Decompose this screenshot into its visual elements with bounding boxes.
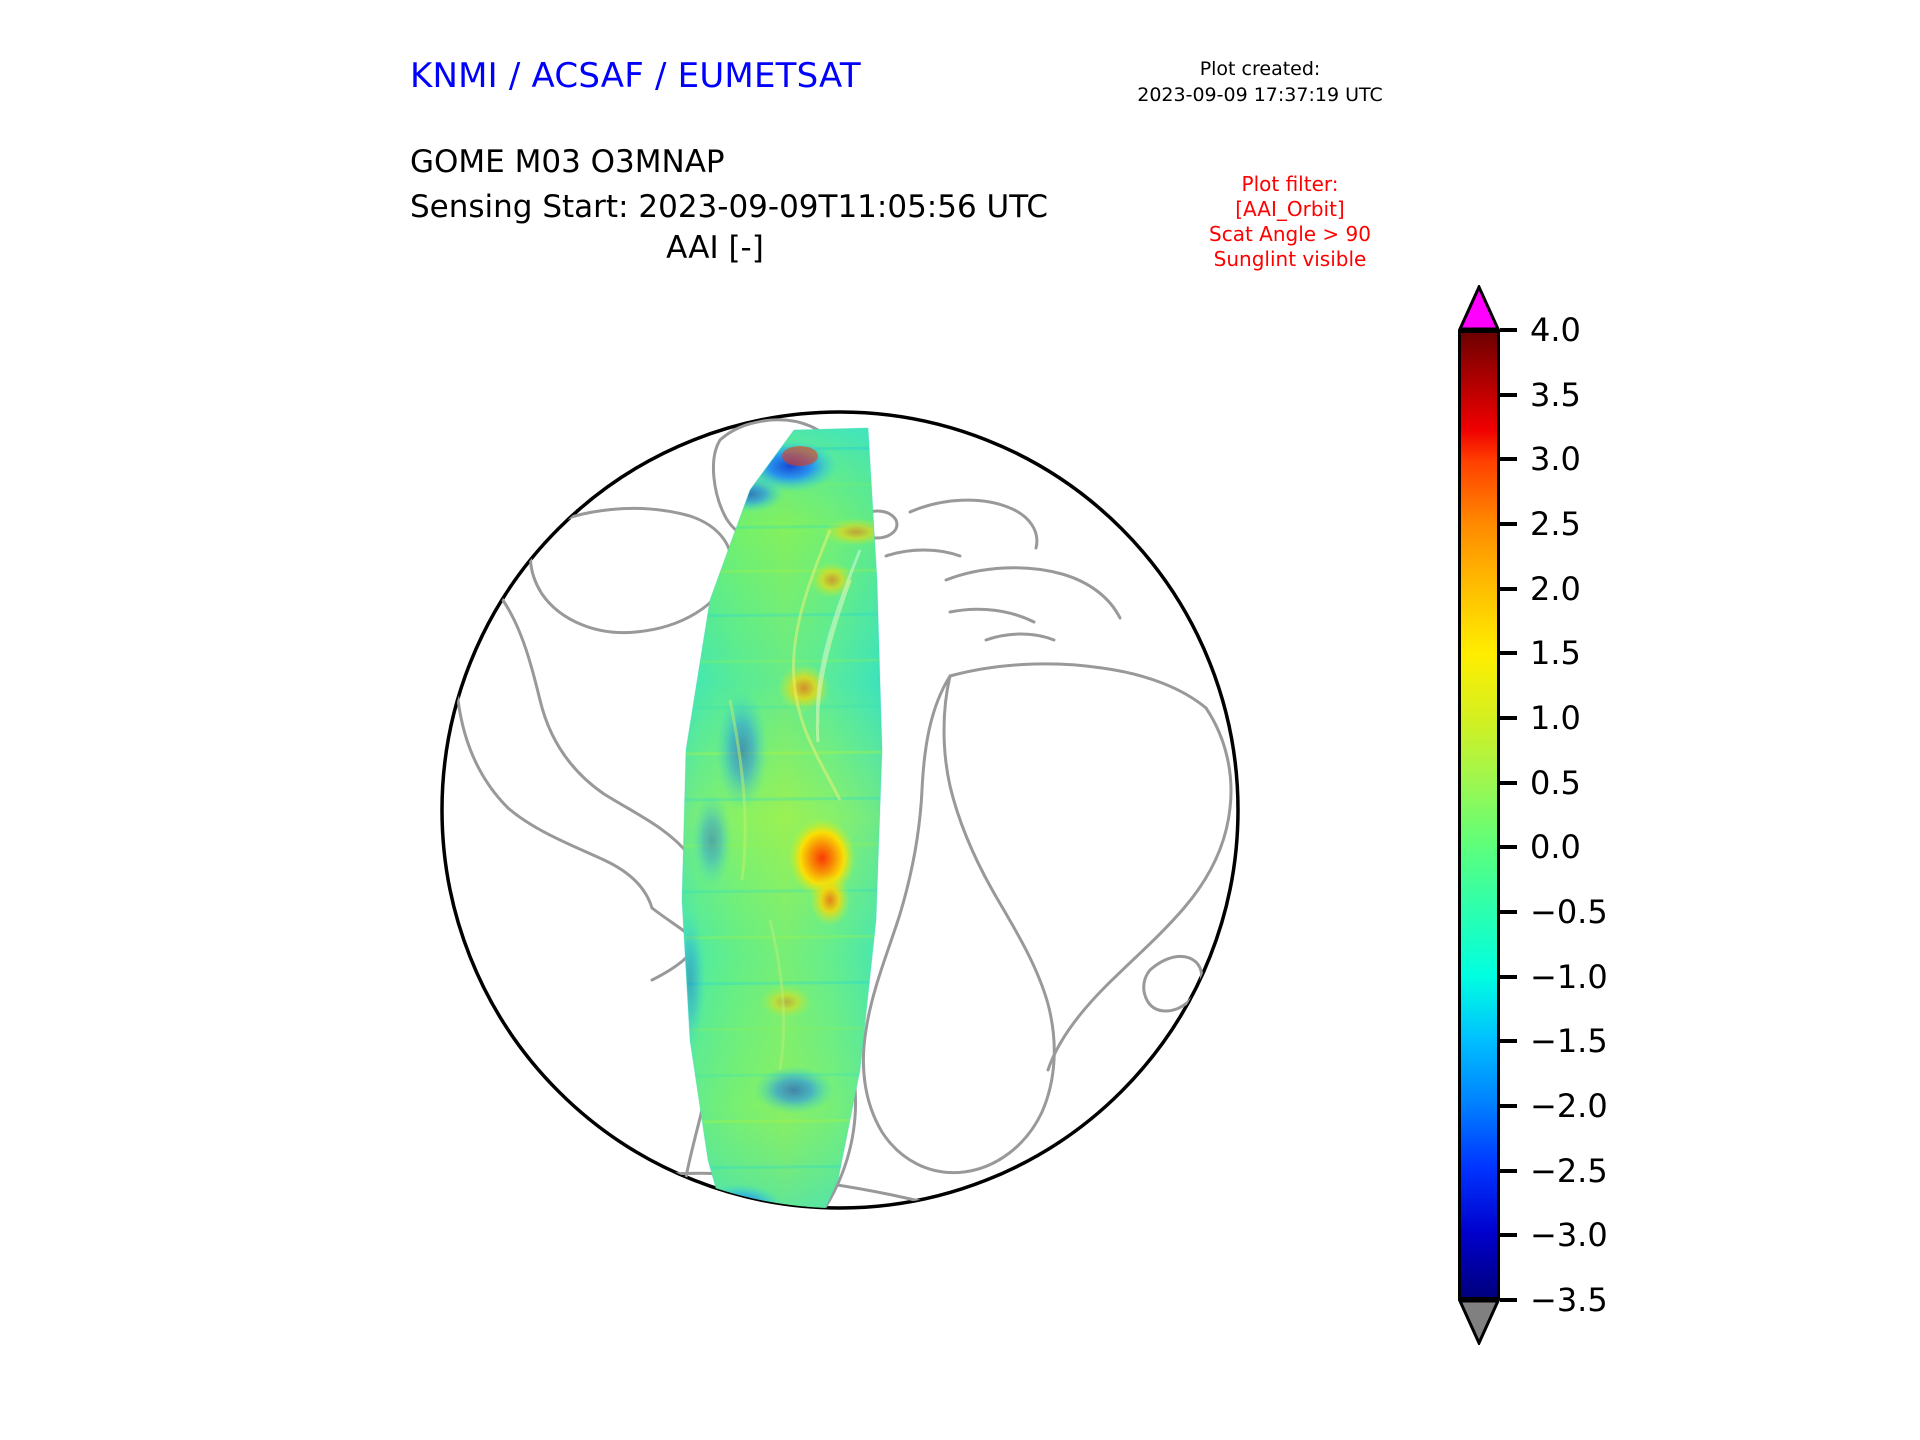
colorbar-tick-mark bbox=[1500, 328, 1517, 332]
colorbar-tick-label: 0.0 bbox=[1530, 827, 1581, 867]
colorbar-tick-label: 2.0 bbox=[1530, 569, 1581, 609]
organisation-title: KNMI / ACSAF / EUMETSAT bbox=[410, 56, 861, 96]
colorbar-tick-mark bbox=[1500, 1169, 1517, 1173]
colorbar-tick-mark bbox=[1500, 457, 1517, 461]
colorbar-tick-label: −1.0 bbox=[1530, 957, 1608, 997]
colorbar: 4.0 3.5 3.0 2.5 2.0 1.5 1.0 0.5 0.0 −0.5… bbox=[1440, 285, 1840, 1335]
colorbar-tick-label: −1.5 bbox=[1530, 1021, 1608, 1061]
colorbar-tick-mark bbox=[1500, 716, 1517, 720]
colorbar-tick-mark bbox=[1500, 1298, 1517, 1302]
colorbar-tick-label: 3.0 bbox=[1530, 439, 1581, 479]
colorbar-tick-mark bbox=[1500, 781, 1517, 785]
colorbar-tick-label: −2.5 bbox=[1530, 1151, 1608, 1191]
globe-svg bbox=[390, 280, 1290, 1340]
plot-filter-line-3: Sunglint visible bbox=[1130, 247, 1450, 272]
colorbar-tick-mark bbox=[1500, 587, 1517, 591]
globe-map[interactable] bbox=[390, 280, 1290, 1340]
colorbar-tick-label: 3.5 bbox=[1530, 375, 1581, 415]
colorbar-gradient bbox=[1458, 330, 1500, 1300]
plot-created-label: Plot created: bbox=[1070, 56, 1450, 82]
colorbar-under-arrow-icon bbox=[1458, 1299, 1500, 1345]
colorbar-over-arrow-icon bbox=[1458, 285, 1500, 331]
colorbar-tick-label: 1.5 bbox=[1530, 633, 1581, 673]
colorbar-tick-mark bbox=[1500, 1104, 1517, 1108]
plot-created-timestamp: 2023-09-09 17:37:19 UTC bbox=[1070, 82, 1450, 108]
colorbar-tick-label: −3.5 bbox=[1530, 1280, 1608, 1320]
colorbar-tick-label: 1.0 bbox=[1530, 698, 1581, 738]
colorbar-tick-label: −2.0 bbox=[1530, 1086, 1608, 1126]
colorbar-tick-label: 2.5 bbox=[1530, 504, 1581, 544]
colorbar-tick-label: 0.5 bbox=[1530, 763, 1581, 803]
colorbar-tick-mark bbox=[1500, 522, 1517, 526]
plot-created-block: Plot created: 2023-09-09 17:37:19 UTC bbox=[1070, 56, 1450, 108]
colorbar-tick-mark bbox=[1500, 975, 1517, 979]
plot-filter-block: Plot filter: [AAI_Orbit] Scat Angle > 90… bbox=[1130, 172, 1450, 272]
plot-filter-line-1: [AAI_Orbit] bbox=[1130, 197, 1450, 222]
instrument-product-line: GOME M03 O3MNAP bbox=[410, 140, 1048, 185]
colorbar-tick-label: 4.0 bbox=[1530, 310, 1581, 350]
colorbar-tick-label: −3.0 bbox=[1530, 1215, 1608, 1255]
colorbar-tick-mark bbox=[1500, 910, 1517, 914]
plot-filter-line-2: Scat Angle > 90 bbox=[1130, 222, 1450, 247]
plot-filter-line-0: Plot filter: bbox=[1130, 172, 1450, 197]
colorbar-tick-mark bbox=[1500, 1233, 1517, 1237]
product-title-block: GOME M03 O3MNAP Sensing Start: 2023-09-0… bbox=[410, 140, 1048, 230]
colorbar-tick-mark bbox=[1500, 393, 1517, 397]
colorbar-tick-mark bbox=[1500, 845, 1517, 849]
colorbar-tick-mark bbox=[1500, 651, 1517, 655]
colorbar-tick-mark bbox=[1500, 1039, 1517, 1043]
colorbar-tick-label: −0.5 bbox=[1530, 892, 1608, 932]
sensing-start-line: Sensing Start: 2023-09-09T11:05:56 UTC bbox=[410, 185, 1048, 230]
